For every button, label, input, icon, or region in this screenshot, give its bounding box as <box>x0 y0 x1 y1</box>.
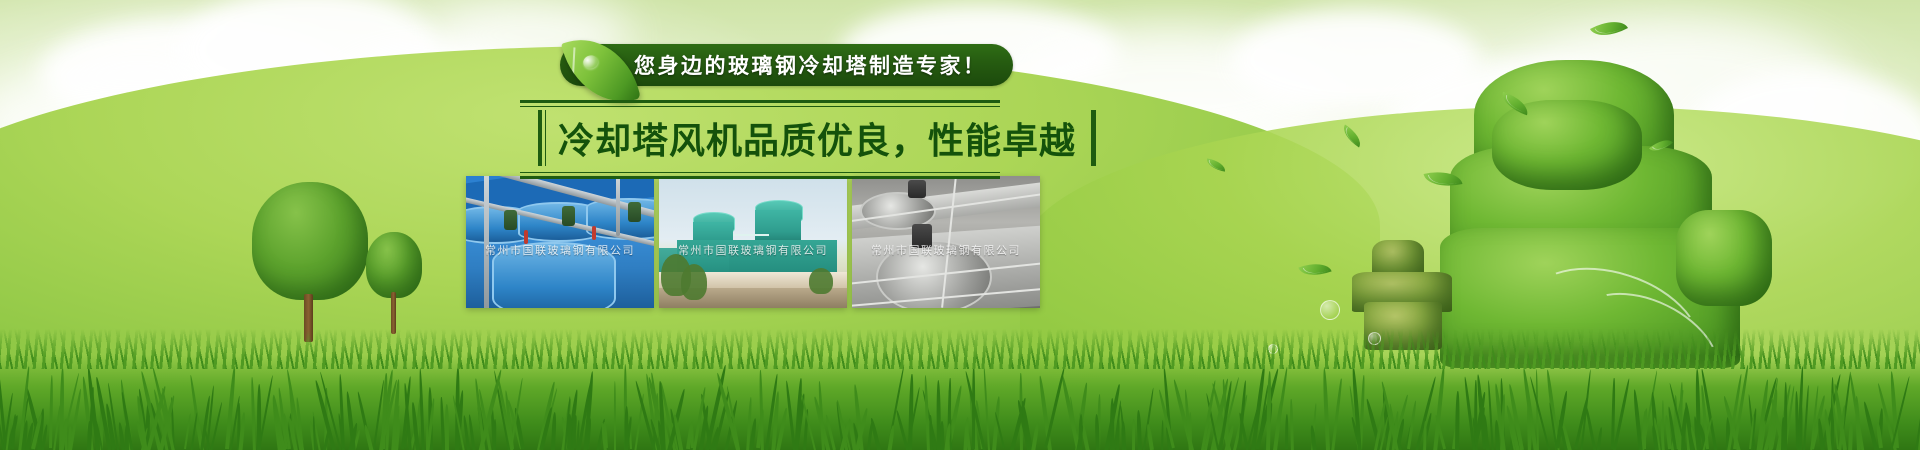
bubble-sparkle <box>1320 300 1340 320</box>
grass-blade <box>445 404 449 450</box>
grass-blade <box>225 366 236 449</box>
grass-blade <box>11 414 17 449</box>
photo-watermark: 常州市国联玻璃钢有限公司 <box>678 242 828 258</box>
tagline-badge: 您身边的玻璃钢冷却塔制造专家！ <box>560 44 1013 86</box>
grass-blade <box>1848 421 1853 450</box>
grass-blade <box>1044 367 1066 449</box>
grass-blade <box>936 380 941 450</box>
grass-blade <box>551 412 557 450</box>
grass-blade <box>439 397 444 450</box>
grass-blade <box>1660 419 1665 450</box>
headline-text: 冷却塔风机品质优良，性能卓越 <box>546 112 1088 164</box>
grass-blade <box>1331 378 1342 450</box>
grass-blade <box>1161 420 1164 450</box>
promo-banner: 您身边的玻璃钢冷却塔制造专家！ 冷却塔风机品质优良，性能卓越 <box>0 0 1920 450</box>
grass-blade <box>567 414 572 448</box>
grass-blade <box>887 425 895 450</box>
headline-body: 冷却塔风机品质优良，性能卓越 <box>520 107 1114 169</box>
grass-blade <box>1290 399 1294 450</box>
product-photo-strip: 常州市国联玻璃钢有限公司 常州市国联玻璃钢有限公司 <box>466 176 1040 308</box>
tree-icon <box>252 182 368 332</box>
headline-block: 冷却塔风机品质优良，性能卓越 <box>520 100 1114 179</box>
grass-blade <box>1323 368 1331 450</box>
grass-blade <box>1273 400 1283 450</box>
grass-blade <box>572 404 576 448</box>
tagline-text: 您身边的玻璃钢冷却塔制造专家！ <box>634 50 987 80</box>
grass-blade <box>257 384 261 450</box>
grass-blade <box>1784 382 1787 450</box>
grass-blade <box>1031 422 1039 450</box>
photo-watermark: 常州市国联玻璃钢有限公司 <box>485 242 635 258</box>
headline-rule-top <box>520 100 1000 103</box>
grass-blade <box>1423 421 1427 450</box>
product-photo[interactable]: 常州市国联玻璃钢有限公司 <box>466 176 654 308</box>
product-photo[interactable]: 常州市国联玻璃钢有限公司 <box>659 176 847 308</box>
grass-blade <box>1580 369 1592 450</box>
grass-blade <box>1633 389 1644 450</box>
grass-blade <box>983 365 990 450</box>
headline-vbar-left <box>538 110 542 166</box>
headline-rule-bottom <box>520 176 1000 179</box>
product-photo[interactable]: 常州市国联玻璃钢有限公司 <box>852 176 1040 308</box>
tree-icon <box>366 232 422 332</box>
grass-blade <box>251 377 256 450</box>
photo-watermark: 常州市国联玻璃钢有限公司 <box>871 242 1021 258</box>
headline-vbar-right <box>1092 110 1096 166</box>
grass-blade <box>1407 400 1417 449</box>
grass-blade <box>614 381 616 450</box>
grass-strip <box>0 355 1920 450</box>
grass-blade <box>1596 428 1603 450</box>
grass-blade <box>1146 424 1153 450</box>
grass-blade <box>1800 406 1803 450</box>
grass-blade <box>419 368 425 450</box>
grass-blade <box>363 424 374 450</box>
headline-rule-bottom-thin <box>520 172 1000 173</box>
grass-blade <box>1285 414 1288 450</box>
grass-blade <box>1803 385 1810 450</box>
grass-blade <box>49 375 53 448</box>
grass-blade <box>1455 391 1459 450</box>
grass-blade <box>1136 410 1142 450</box>
water-drop-icon <box>582 54 600 71</box>
grass-blade <box>1612 378 1631 450</box>
grass-blade <box>1488 380 1495 450</box>
grass-blade <box>1132 419 1135 450</box>
